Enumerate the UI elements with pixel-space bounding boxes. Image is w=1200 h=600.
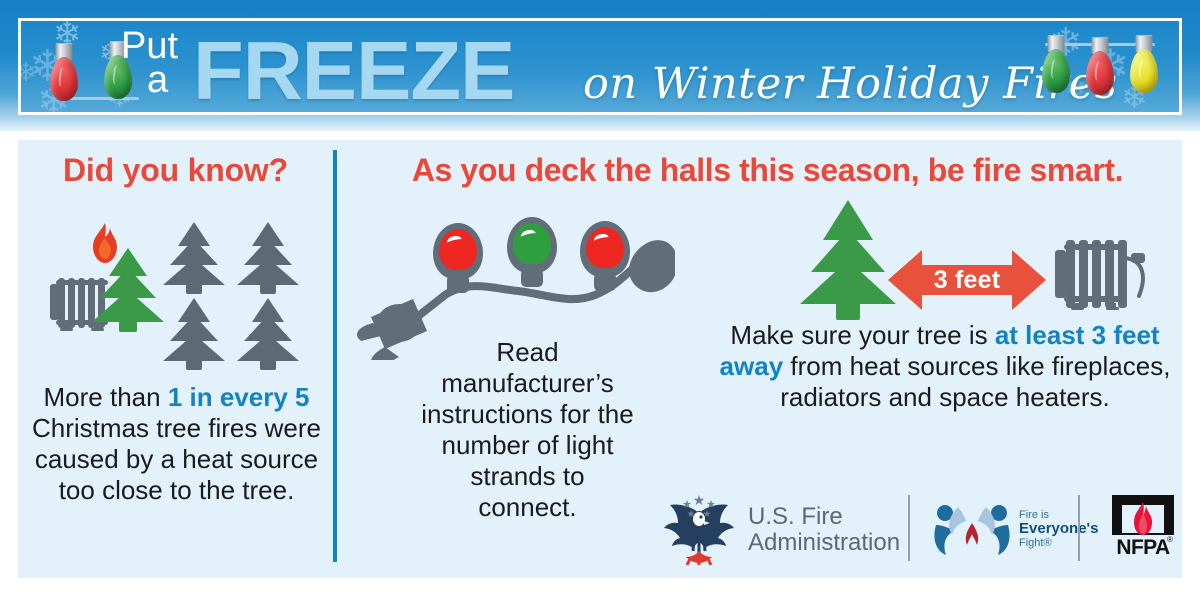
radiator-left-column: [1055, 250, 1066, 298]
tree-tier: [800, 260, 896, 304]
logo-fire-is-everyones-fight[interactable]: Fire is Everyone's Fight®: [932, 501, 1098, 557]
usfa-wordmark: U.S. Fire Administration: [748, 504, 900, 556]
right-body-text: Make sure your tree is at least 3 feet a…: [700, 320, 1190, 413]
light-bulb-green-icon: [507, 217, 557, 273]
christmas-tree-gray-icon: [237, 298, 299, 370]
right-heading: As you deck the halls this season, be fi…: [345, 152, 1190, 189]
two-figures-with-flame-icon: [932, 501, 1012, 557]
radiator-cord-icon: [1119, 252, 1153, 304]
radiator-foot: [1109, 303, 1116, 310]
feff-line2: Everyone's: [1019, 521, 1098, 537]
tree-trunk: [186, 284, 202, 294]
tree-tier: [237, 334, 299, 361]
middle-body-text: Read manufacturer’s instructions for the…: [420, 337, 635, 523]
christmas-tree-gray-icon: [163, 222, 225, 294]
logo-separator: [908, 495, 910, 561]
eagle-with-stars-and-flames-icon: [660, 491, 738, 569]
bulb-socket: [521, 269, 543, 287]
c7-bulb-green-icon: [1039, 35, 1073, 99]
light-strand-icon: [355, 195, 675, 360]
three-feet-arrow: 3 feet: [888, 248, 1046, 312]
left-text-highlight: 1 in every 5: [168, 382, 310, 412]
bulb-inner: [513, 223, 551, 264]
right-text-part2: from heat sources like fireplaces, radia…: [780, 351, 1170, 412]
tree-tier: [237, 258, 299, 285]
left-text-part2: Christmas tree fires were caused by a he…: [32, 413, 321, 505]
feff-wordmark: Fire is Everyone's Fight®: [1019, 509, 1098, 549]
logo-nfpa[interactable]: NFPA ®: [1112, 495, 1176, 563]
tree-tier: [163, 258, 225, 285]
christmas-tree-gray-icon: [163, 298, 225, 370]
nfpa-registered-mark: ®: [1167, 535, 1173, 544]
banner-script-text: on Winter Holiday Fires: [583, 59, 1117, 109]
header-banner: ❄ ❄ ❄ ❄ ❄ ❄ ❄ ❄ ❄ ❄ Put: [0, 0, 1200, 131]
c7-bulb-yellow-icon: [1127, 35, 1161, 99]
right-text-part1: Make sure your tree is: [730, 320, 994, 350]
feff-line3: Fight®: [1019, 537, 1098, 549]
light-bulb-red-icon: [580, 221, 630, 277]
left-body-text: More than 1 in every 5 Christmas tree fi…: [24, 382, 329, 506]
christmas-tree-gray-icon: [237, 222, 299, 294]
nfpa-wordmark: NFPA: [1112, 535, 1174, 560]
logo-bar: U.S. Fire Administration Fire is Everyon…: [660, 483, 1190, 575]
bulb-glass: [1042, 49, 1070, 93]
bulb-glass: [1130, 49, 1158, 93]
light-bulb-red-icon: [433, 223, 483, 279]
panel-divider: [333, 150, 337, 562]
infographic-poster: ❄ ❄ ❄ ❄ ❄ ❄ ❄ ❄ ❄ ❄ Put: [0, 0, 1200, 600]
tree-trunk: [260, 284, 276, 294]
christmas-tree-green-icon: [92, 248, 164, 332]
bulb-inner: [586, 227, 624, 268]
logo-separator: [1078, 495, 1080, 561]
logo-us-fire-administration[interactable]: U.S. Fire Administration: [660, 491, 900, 569]
bulb-glass: [1086, 51, 1114, 95]
radiator-foot: [63, 325, 70, 331]
radiator-bottom-bar: [1064, 296, 1122, 302]
bulb-socket: [594, 273, 616, 291]
tree-trunk: [260, 360, 276, 370]
usfa-line2: Administration: [748, 530, 900, 556]
flame-icon: [1130, 502, 1156, 536]
tree-trunk: [186, 360, 202, 370]
c7-bulb-red-icon: [1083, 37, 1117, 101]
usfa-line1: U.S. Fire: [748, 504, 900, 530]
left-text-part1: More than: [44, 382, 168, 412]
radiator-icon: [1055, 240, 1135, 310]
tree-trunk: [119, 320, 137, 332]
tree-trunk: [836, 302, 860, 320]
banner-word-freeze: FREEZE: [193, 25, 514, 115]
bulb-socket: [447, 275, 469, 293]
radiator-top-bar: [1064, 244, 1122, 250]
tree-tier: [92, 290, 164, 322]
arrow-label: 3 feet: [888, 248, 1046, 312]
banner-put-a-text: Put a: [121, 29, 201, 97]
radiator-foot: [1074, 303, 1081, 310]
tree-tier: [163, 334, 225, 361]
christmas-tree-green-icon: [800, 200, 896, 320]
left-heading: Did you know?: [18, 152, 333, 189]
bulb-inner: [439, 229, 477, 270]
header-banner-inner-frame: ❄ ❄ ❄ ❄ ❄ ❄ ❄ ❄ ❄ ❄ Put: [18, 18, 1182, 115]
